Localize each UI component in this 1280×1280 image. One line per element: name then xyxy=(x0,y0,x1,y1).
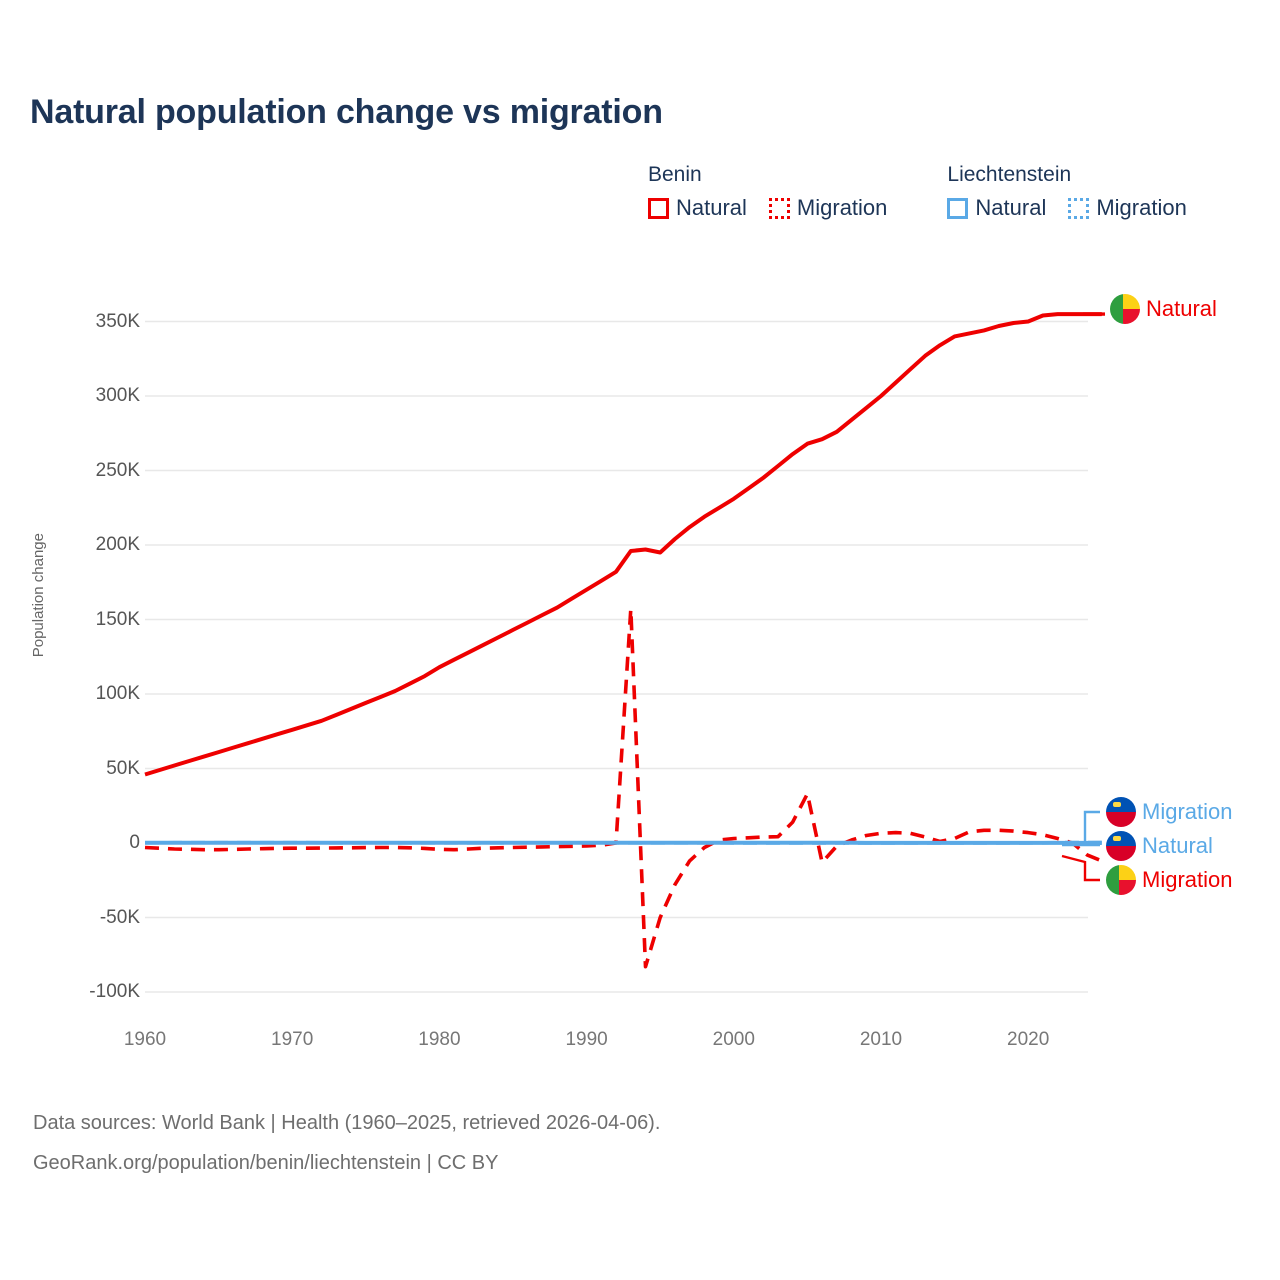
footer-attribution[interactable]: GeoRank.org/population/benin/liechtenste… xyxy=(33,1152,498,1175)
y-tick-label: -100K xyxy=(89,981,140,1003)
y-tick-label: 0 xyxy=(129,832,140,854)
y-tick-label: -50K xyxy=(100,907,140,929)
benin-flag-icon xyxy=(1106,865,1136,895)
end-label-text-benin-natural: Natural xyxy=(1146,296,1217,322)
end-label-text-benin-migration: Migration xyxy=(1142,867,1232,893)
end-label-liechtenstein-natural[interactable]: Natural xyxy=(1106,831,1213,861)
x-tick-label: 2010 xyxy=(860,1029,902,1051)
liechtenstein-flag-icon xyxy=(1106,797,1136,827)
x-tick-label: 2020 xyxy=(1007,1029,1049,1051)
y-axis-label: Population change xyxy=(30,533,47,657)
x-tick-label: 2000 xyxy=(713,1029,755,1051)
liechtenstein-flag-icon xyxy=(1106,831,1136,861)
y-tick-label: 200K xyxy=(96,534,140,556)
x-tick-label: 1960 xyxy=(124,1029,166,1051)
x-tick-label: 1990 xyxy=(565,1029,607,1051)
leader-line-liechtenstein-migration xyxy=(1062,812,1100,843)
y-tick-label: 300K xyxy=(96,385,140,407)
plot-area xyxy=(0,0,1280,1280)
x-tick-label: 1980 xyxy=(418,1029,460,1051)
y-tick-label: 350K xyxy=(96,311,140,333)
end-label-liechtenstein-migration[interactable]: Migration xyxy=(1106,797,1232,827)
end-label-text-liechtenstein-natural: Natural xyxy=(1142,833,1213,859)
series-line-benin-migration xyxy=(145,609,1102,967)
footer-data-sources: Data sources: World Bank | Health (1960–… xyxy=(33,1112,660,1135)
y-tick-label: 50K xyxy=(106,758,140,780)
y-tick-label: 150K xyxy=(96,609,140,631)
x-tick-label: 1970 xyxy=(271,1029,313,1051)
y-tick-label: 100K xyxy=(96,683,140,705)
end-label-text-liechtenstein-migration: Migration xyxy=(1142,799,1232,825)
y-tick-label: 250K xyxy=(96,460,140,482)
chart-root: Natural population change vs migration B… xyxy=(0,0,1280,1280)
end-label-benin-migration[interactable]: Migration xyxy=(1106,865,1232,895)
benin-flag-icon xyxy=(1110,294,1140,324)
end-label-benin-natural[interactable]: Natural xyxy=(1110,294,1217,324)
